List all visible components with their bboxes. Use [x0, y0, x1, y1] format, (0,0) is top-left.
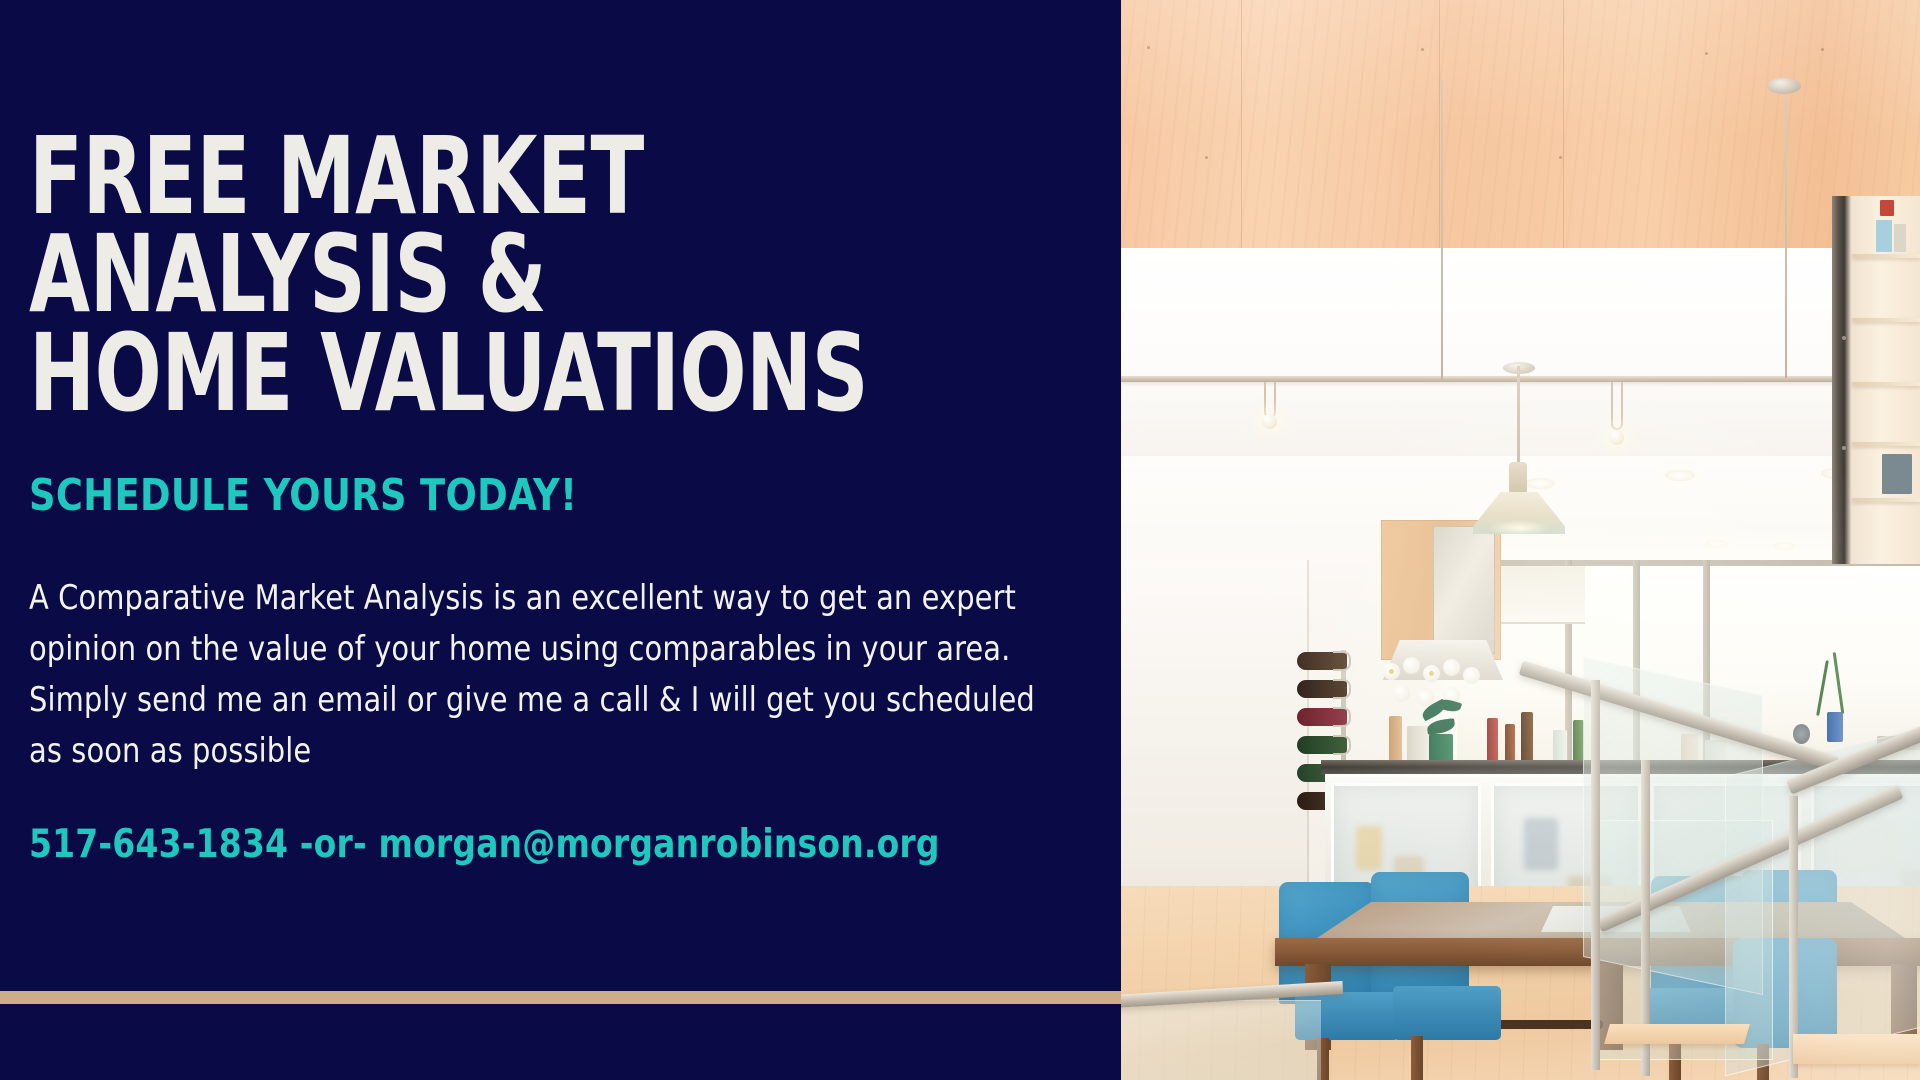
counter-glass: [1553, 730, 1567, 762]
recessed-downlight: [1705, 540, 1727, 548]
track-light-clip: [1611, 382, 1623, 430]
stair-tread: [1793, 1034, 1920, 1064]
wine-bottle-holder: [1333, 651, 1351, 671]
orchid-bloom: [1463, 667, 1480, 684]
recessed-shelf-niche: [1832, 196, 1920, 564]
frame-fastener: [1842, 446, 1846, 450]
counter-bottle: [1521, 712, 1533, 762]
track-light-rail: [1121, 376, 1920, 382]
contact-line[interactable]: 517-643-1834 -or- morgan@morganrobinson.…: [29, 822, 1054, 867]
ceiling-screw: [1821, 48, 1824, 51]
recessed-downlight: [1665, 470, 1695, 481]
dining-table-stretcher: [1493, 1020, 1603, 1029]
recessed-downlight: [1773, 542, 1795, 550]
counter-ornament: [1793, 724, 1810, 744]
track-light-bulb: [1262, 414, 1277, 429]
foreground-glass-panel: [1121, 1000, 1321, 1080]
orchid-center: [1429, 671, 1434, 676]
upper-wall: [1121, 248, 1920, 456]
text-panel: FREE MARKET ANALYSIS & HOME VALUATIONS S…: [0, 0, 1121, 1080]
subheadline: SCHEDULE YOURS TODAY!: [29, 470, 1043, 521]
interior-photo: [1121, 0, 1920, 1080]
body-paragraph: A Comparative Market Analysis is an exce…: [29, 573, 1071, 777]
pane-content-blur: [1356, 826, 1382, 870]
stair-tread: [1604, 1024, 1750, 1044]
pendant-glow: [1489, 520, 1549, 536]
railing-post: [1591, 680, 1600, 1070]
ceiling-canopy: [1767, 78, 1801, 94]
dining-chair-seat: [1393, 986, 1501, 1040]
orchid-center: [1389, 669, 1394, 674]
ceiling-screw: [1559, 156, 1562, 159]
page-title: FREE MARKET ANALYSIS & HOME VALUATIONS: [29, 128, 923, 423]
niche-shelf: [1852, 318, 1920, 322]
rail-drop-wire: [1441, 80, 1443, 380]
orchid-bloom: [1393, 685, 1410, 702]
counter-plant: [1417, 700, 1471, 762]
niche-shelf: [1852, 498, 1920, 502]
copy-block: FREE MARKET ANALYSIS & HOME VALUATIONS S…: [29, 0, 1119, 867]
flyer-poster: FREE MARKET ANALYSIS & HOME VALUATIONS S…: [0, 0, 1920, 1080]
wine-bottle-holder: [1333, 679, 1351, 699]
shelf-book: [1894, 224, 1906, 252]
orchid-bloom: [1403, 657, 1420, 674]
orchid-bloom: [1443, 659, 1460, 676]
upper-cabinet: [1381, 520, 1501, 660]
plant-leaf: [1426, 718, 1456, 735]
dining-chair-leg: [1411, 1036, 1423, 1080]
counter-bottle: [1487, 718, 1498, 762]
track-light-bulb: [1609, 430, 1624, 445]
counter-bottle: [1505, 724, 1515, 762]
ceiling-screw: [1147, 46, 1150, 49]
niche-shelf: [1852, 382, 1920, 386]
wine-bottle-holder: [1333, 735, 1351, 755]
rail-drop-wire: [1785, 96, 1787, 378]
ceiling-screw: [1705, 52, 1708, 55]
counter-canister: [1389, 716, 1402, 762]
counter-vase: [1827, 712, 1843, 742]
pendant-rod: [1517, 366, 1520, 462]
gold-divider: [0, 991, 1121, 1004]
ceiling-seam: [1439, 0, 1440, 248]
niche-shelf: [1852, 442, 1920, 446]
frame-fastener: [1842, 336, 1846, 340]
pane-content-blur: [1524, 818, 1558, 870]
shelf-book: [1880, 200, 1894, 216]
ceiling-screw: [1205, 156, 1208, 159]
ceiling-seam: [1241, 0, 1242, 248]
shelf-book: [1876, 220, 1892, 252]
plant-pot: [1429, 734, 1453, 762]
track-light-clip: [1264, 382, 1276, 418]
wine-bottle-holder: [1333, 707, 1351, 727]
shelf-object: [1882, 454, 1912, 494]
ceiling-screw: [1421, 48, 1424, 51]
niche-shelf: [1852, 254, 1920, 258]
pendant-socket: [1509, 462, 1527, 494]
ceiling-seam: [1563, 0, 1564, 248]
cabinet-glass-door: [1433, 526, 1495, 654]
recessed-downlight: [1525, 478, 1555, 489]
